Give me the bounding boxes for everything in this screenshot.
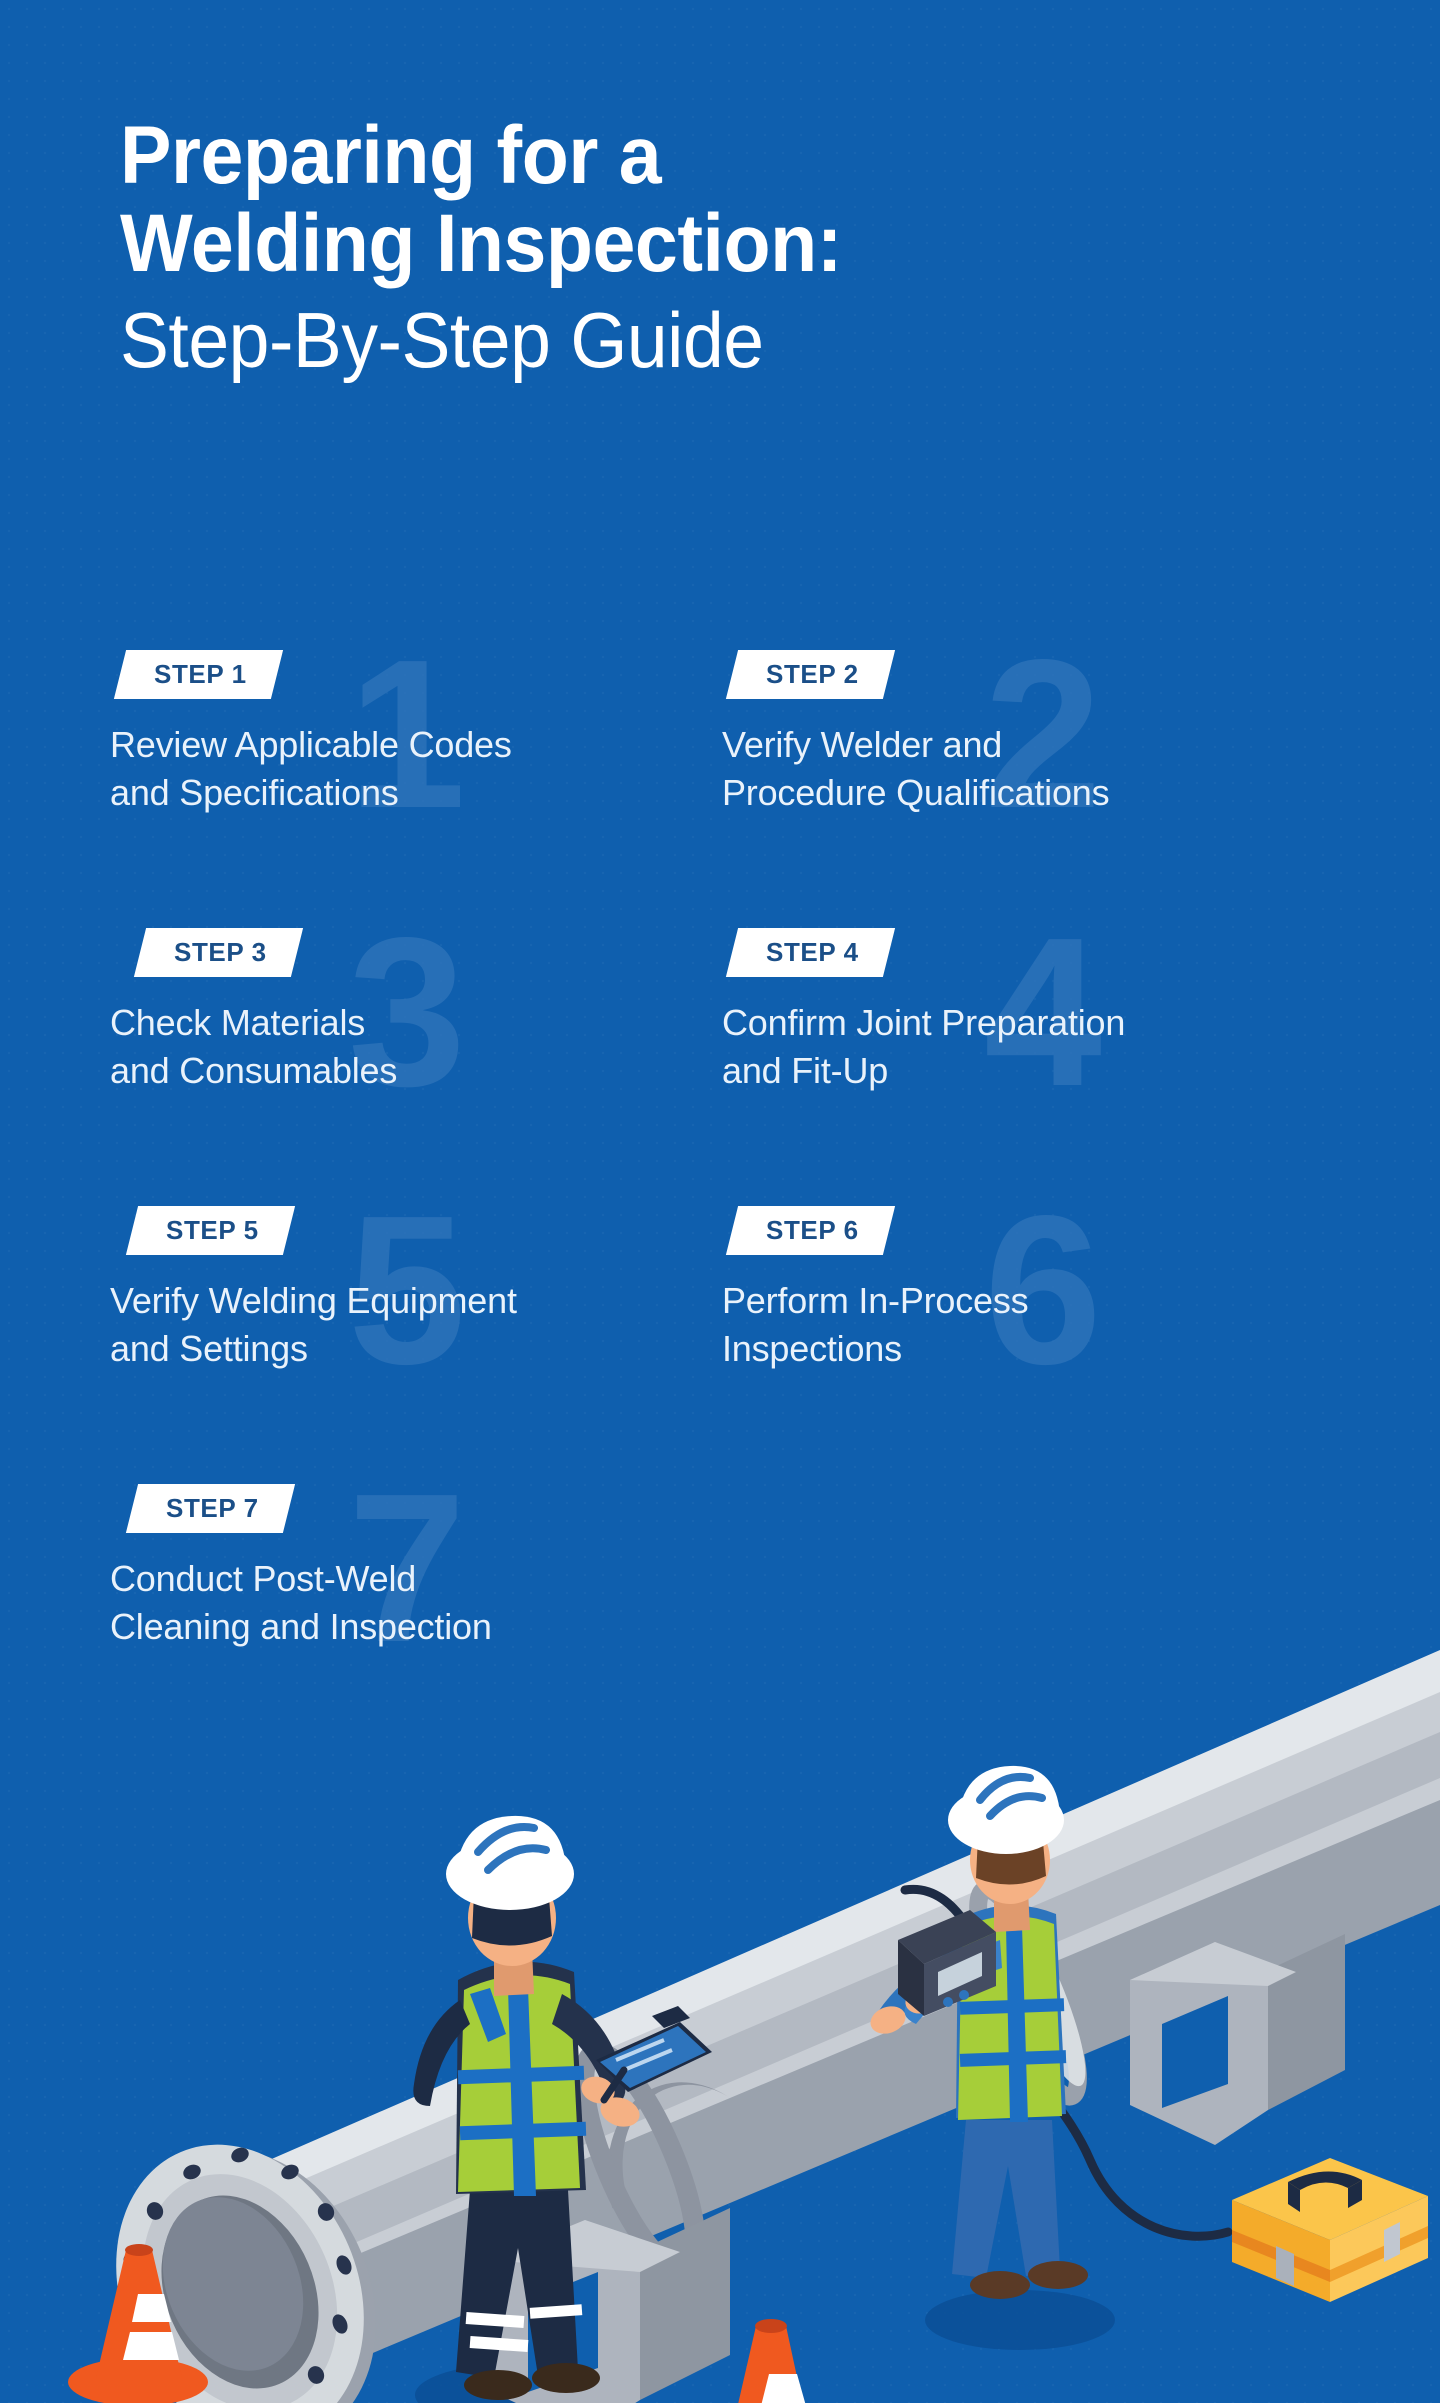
inspector-right-legs: [952, 2120, 1060, 2278]
step-badge-label-2: STEP 2: [766, 659, 859, 690]
step-item-6: 6 STEP 6 Perform In-Process Inspections: [722, 1206, 1322, 1484]
step-badge-label-5: STEP 5: [166, 1215, 259, 1246]
steps-row-2: 3 STEP 3 Check Materials and Consumables…: [110, 928, 1370, 1206]
step-text-1: Review Applicable Codes and Specificatio…: [110, 721, 710, 817]
step-item-5: 5 STEP 5 Verify Welding Equipment and Se…: [110, 1206, 710, 1484]
step-badge-label-3: STEP 3: [174, 937, 267, 968]
cone-center-tip: [755, 2319, 787, 2333]
tester-button-2: [959, 1990, 969, 2000]
shadow-inspector-right: [925, 2290, 1115, 2350]
inspector-right-shoe-left: [970, 2271, 1030, 2299]
steps-row-4: 7 STEP 7 Conduct Post-Weld Cleaning and …: [110, 1484, 1370, 1762]
pipe-support-right: [1130, 1934, 1345, 2145]
step-badge-label-1: STEP 1: [154, 659, 247, 690]
step-badge-label-7: STEP 7: [166, 1493, 259, 1524]
step-badge-3: STEP 3: [134, 928, 303, 977]
title-line-2: Welding Inspection:: [120, 200, 842, 288]
page-title: Preparing for a Welding Inspection: Step…: [120, 112, 888, 388]
title-line-3: Step-By-Step Guide: [120, 288, 842, 388]
steps-row-1: 1 STEP 1 Review Applicable Codes and Spe…: [110, 650, 1370, 928]
tester-button-1: [943, 1997, 953, 2007]
step-item-2: 2 STEP 2 Verify Welder and Procedure Qua…: [722, 650, 1322, 928]
step-badge-label-4: STEP 4: [766, 937, 859, 968]
cone-left-tip: [125, 2244, 153, 2256]
steps-row-3: 5 STEP 5 Verify Welding Equipment and Se…: [110, 1206, 1370, 1484]
inspector-left-shoe-right: [532, 2363, 600, 2393]
step-item-placeholder: [722, 1484, 1322, 1762]
step-badge-2: STEP 2: [726, 650, 895, 699]
inspector-right-shoe-right: [1028, 2261, 1088, 2289]
step-text-2: Verify Welder and Procedure Qualificatio…: [722, 721, 1322, 817]
step-badge-label-6: STEP 6: [766, 1215, 859, 1246]
step-badge-7: STEP 7: [126, 1484, 295, 1533]
step-text-7: Conduct Post-Weld Cleaning and Inspectio…: [110, 1555, 710, 1651]
toolbox: [1232, 2158, 1428, 2302]
title-line-1: Preparing for a: [120, 112, 842, 200]
inspector-left-shoe-left: [464, 2370, 532, 2400]
step-item-7: 7 STEP 7 Conduct Post-Weld Cleaning and …: [110, 1484, 710, 1762]
step-item-3: 3 STEP 3 Check Materials and Consumables: [110, 928, 710, 1206]
step-text-3: Check Materials and Consumables: [110, 999, 710, 1095]
step-badge-6: STEP 6: [726, 1206, 895, 1255]
steps-list: 1 STEP 1 Review Applicable Codes and Spe…: [110, 650, 1370, 1762]
step-badge-1: STEP 1: [114, 650, 283, 699]
infographic-poster: Preparing for a Welding Inspection: Step…: [0, 0, 1440, 2403]
step-item-1: 1 STEP 1 Review Applicable Codes and Spe…: [110, 650, 710, 928]
cone-left-band-2: [123, 2332, 179, 2360]
step-badge-4: STEP 4: [726, 928, 895, 977]
step-text-6: Perform In-Process Inspections: [722, 1277, 1322, 1373]
step-text-4: Confirm Joint Preparation and Fit-Up: [722, 999, 1322, 1095]
step-text-5: Verify Welding Equipment and Settings: [110, 1277, 710, 1373]
step-badge-5: STEP 5: [126, 1206, 295, 1255]
step-item-4: 4 STEP 4 Confirm Joint Preparation and F…: [722, 928, 1322, 1206]
